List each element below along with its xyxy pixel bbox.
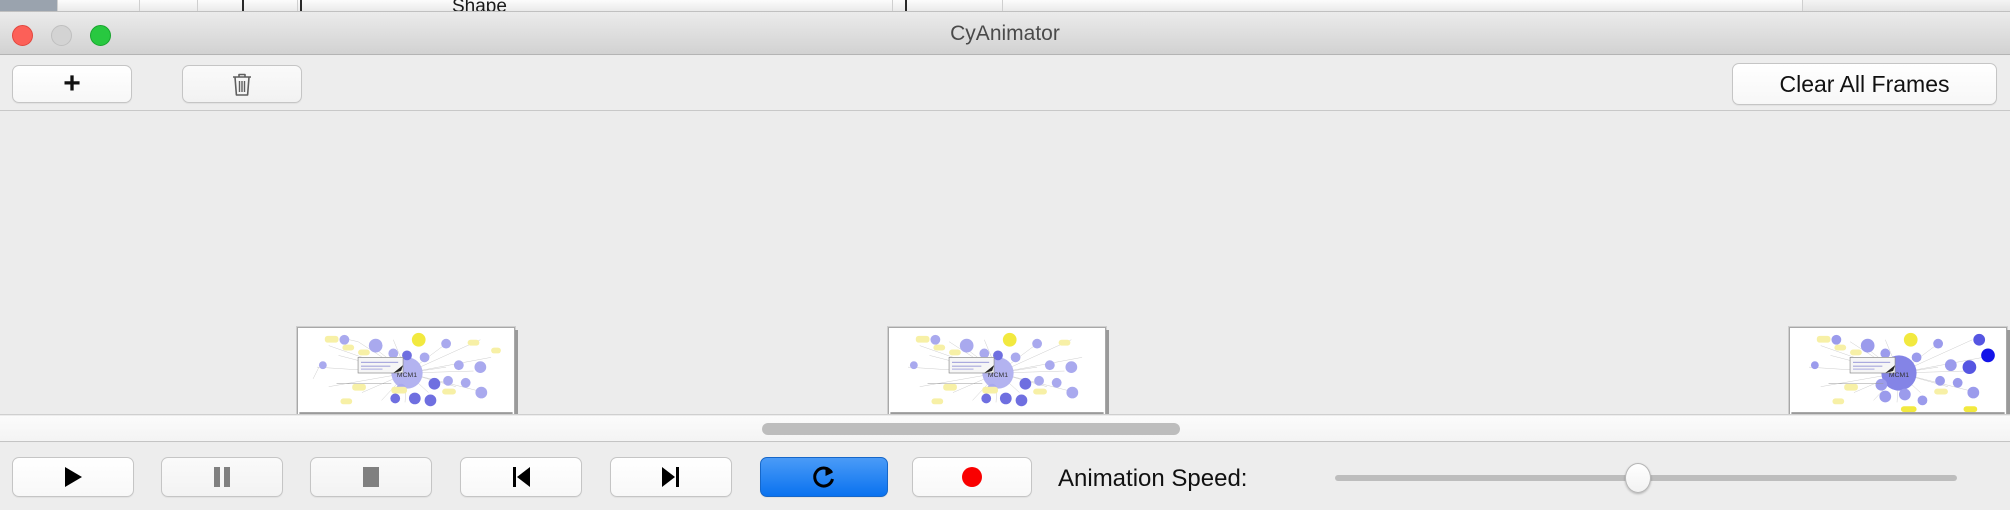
- clear-all-frames-button[interactable]: Clear All Frames: [1732, 63, 1997, 105]
- add-frame-button[interactable]: +: [12, 65, 132, 103]
- skip-to-end-icon: [660, 465, 682, 489]
- thumbnail-node-label: MCM1: [1889, 372, 1909, 379]
- plus-icon: +: [63, 69, 81, 99]
- timeline-panel[interactable]: MCM1: [0, 112, 2010, 415]
- toolbar: + Clear All Frames: [0, 56, 2010, 111]
- pause-button[interactable]: [161, 457, 283, 497]
- network-thumbnail-image: MCM1: [298, 328, 514, 415]
- record-icon: [960, 465, 984, 489]
- bg-tick: [300, 0, 302, 12]
- animation-speed-slider-thumb[interactable]: [1625, 463, 1651, 493]
- delete-frame-button[interactable]: [182, 65, 302, 103]
- animation-speed-label: Animation Speed:: [1058, 465, 1247, 493]
- thumbnail-node-label: MCM1: [397, 372, 417, 379]
- bg-segment: [0, 0, 58, 12]
- loop-icon: [811, 464, 837, 490]
- keyframe-thumbnail[interactable]: MCM1: [1789, 327, 2007, 415]
- timeline-scrollbar[interactable]: [0, 416, 2010, 442]
- loop-button[interactable]: [760, 457, 888, 497]
- network-thumbnail-image: MCM1: [1790, 328, 2006, 415]
- bg-segment: [893, 0, 1003, 12]
- play-icon: [62, 465, 84, 489]
- window-title: CyAnimator: [0, 22, 2010, 46]
- bg-segment: [140, 0, 198, 12]
- background-window-label: Shape: [452, 0, 507, 12]
- bg-tick: [905, 0, 907, 12]
- play-button[interactable]: [12, 457, 134, 497]
- title-bar: CyAnimator: [0, 12, 2010, 55]
- background-window-strip: Shape: [0, 0, 2010, 12]
- bg-segment: [58, 0, 140, 12]
- record-button[interactable]: [912, 457, 1032, 497]
- bg-tick: [242, 0, 244, 12]
- playback-control-bar: Animation Speed:: [0, 443, 2010, 510]
- stop-button[interactable]: [310, 457, 432, 497]
- thumbnail-node-label: MCM1: [988, 372, 1008, 379]
- network-thumbnail-image: MCM1: [889, 328, 1105, 415]
- pause-icon: [212, 465, 232, 489]
- trash-icon: [231, 71, 253, 97]
- skip-to-start-icon: [510, 465, 532, 489]
- bg-segment: [298, 0, 893, 12]
- clear-all-frames-label: Clear All Frames: [1780, 71, 1950, 98]
- keyframe-thumbnail[interactable]: MCM1: [888, 327, 1106, 415]
- bg-segment: [198, 0, 298, 12]
- skip-to-end-button[interactable]: [610, 457, 732, 497]
- scrollbar-thumb[interactable]: [762, 423, 1180, 435]
- skip-to-start-button[interactable]: [460, 457, 582, 497]
- stop-icon: [360, 465, 382, 489]
- bg-segment: [1003, 0, 1803, 12]
- keyframe-thumbnail[interactable]: MCM1: [297, 327, 515, 415]
